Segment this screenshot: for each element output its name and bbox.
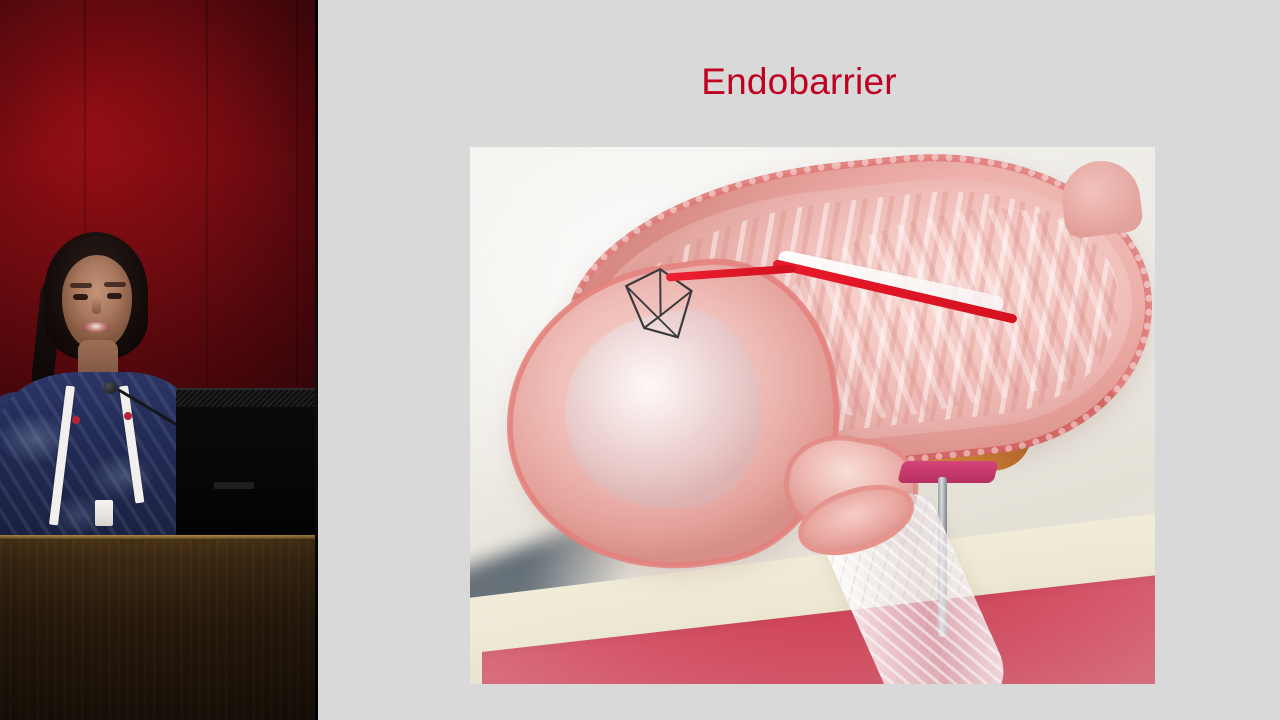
lectern (0, 535, 318, 720)
slide-panel[interactable]: Endobarrier (318, 0, 1280, 720)
confidence-monitor (176, 388, 318, 540)
monitor-logo (214, 482, 254, 489)
lanyard-logo-dot (124, 412, 132, 420)
speaker-nose (92, 298, 101, 314)
slide-title: Endobarrier (318, 60, 1280, 104)
speaker-eyebrow-right (104, 282, 126, 287)
speaker-eye-right (107, 293, 122, 299)
lectern-wood-grain (0, 540, 318, 720)
microphone-head (104, 381, 117, 394)
speaker-mouth (82, 322, 110, 333)
endobarrier-stomach-model-photo (470, 147, 1155, 684)
monitor-vent (176, 390, 318, 407)
conference-badge (95, 500, 113, 526)
lanyard-logo-dot (72, 416, 80, 424)
endobarrier-sleeve-exiting-duodenum (788, 495, 1018, 684)
speaker-video-panel[interactable] (0, 0, 318, 720)
speaker-eye-left (73, 294, 88, 300)
presentation-split-view: Endobarrier (0, 0, 1280, 720)
model-stand-base (897, 461, 998, 483)
speaker-eyebrow-left (70, 283, 92, 288)
